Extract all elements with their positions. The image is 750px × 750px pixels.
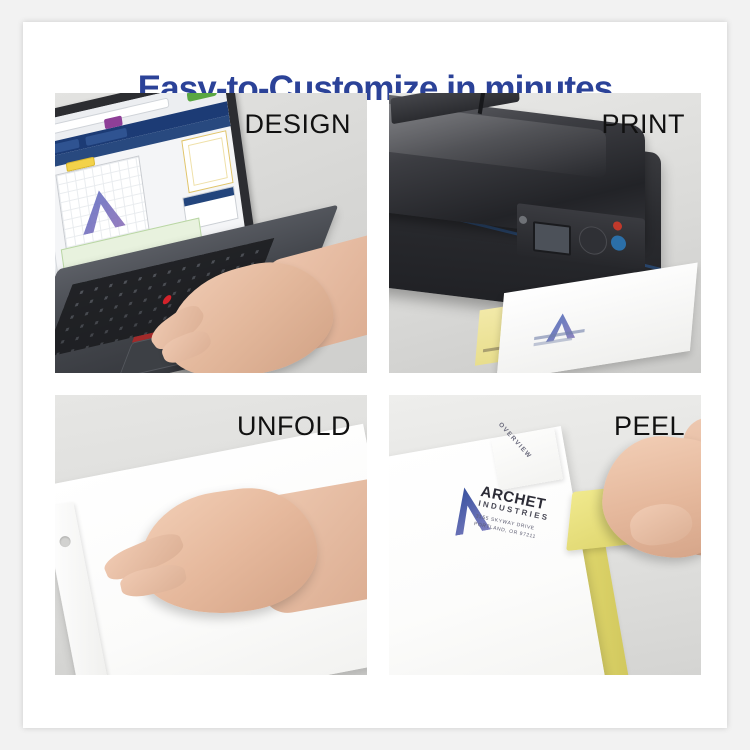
panel-design[interactable]: DESIGN: [55, 93, 367, 373]
divider-tab: OVERVIEW: [491, 428, 563, 490]
punch-hole-icon: [59, 535, 72, 548]
power-button[interactable]: [613, 221, 622, 231]
logo-a-mark-icon: [78, 186, 126, 235]
panel-label-design: DESIGN: [244, 109, 351, 140]
start-button[interactable]: [611, 235, 626, 252]
promo-card: Easy-to-Customize in minutes: [23, 22, 727, 728]
menu-button[interactable]: [519, 215, 527, 224]
thumb: [628, 500, 695, 548]
panel-unfold[interactable]: UNFOLD: [55, 395, 367, 675]
panel-peel[interactable]: OVERVIEW ARCHET INDUSTRIES 3155 SKYWAY D…: [389, 395, 701, 675]
dpad-icon[interactable]: [579, 225, 607, 256]
panel-print[interactable]: PRINT: [389, 93, 701, 373]
panel-label-unfold: UNFOLD: [237, 411, 351, 442]
printer-lcd-screen: [533, 221, 571, 256]
template-preview: [182, 130, 234, 193]
panel-label-peel: PEEL: [614, 411, 685, 442]
panel-label-print: PRINT: [602, 109, 686, 140]
step-panel-grid: DESIGN: [55, 93, 701, 675]
page-root: Easy-to-Customize in minutes: [0, 0, 750, 750]
